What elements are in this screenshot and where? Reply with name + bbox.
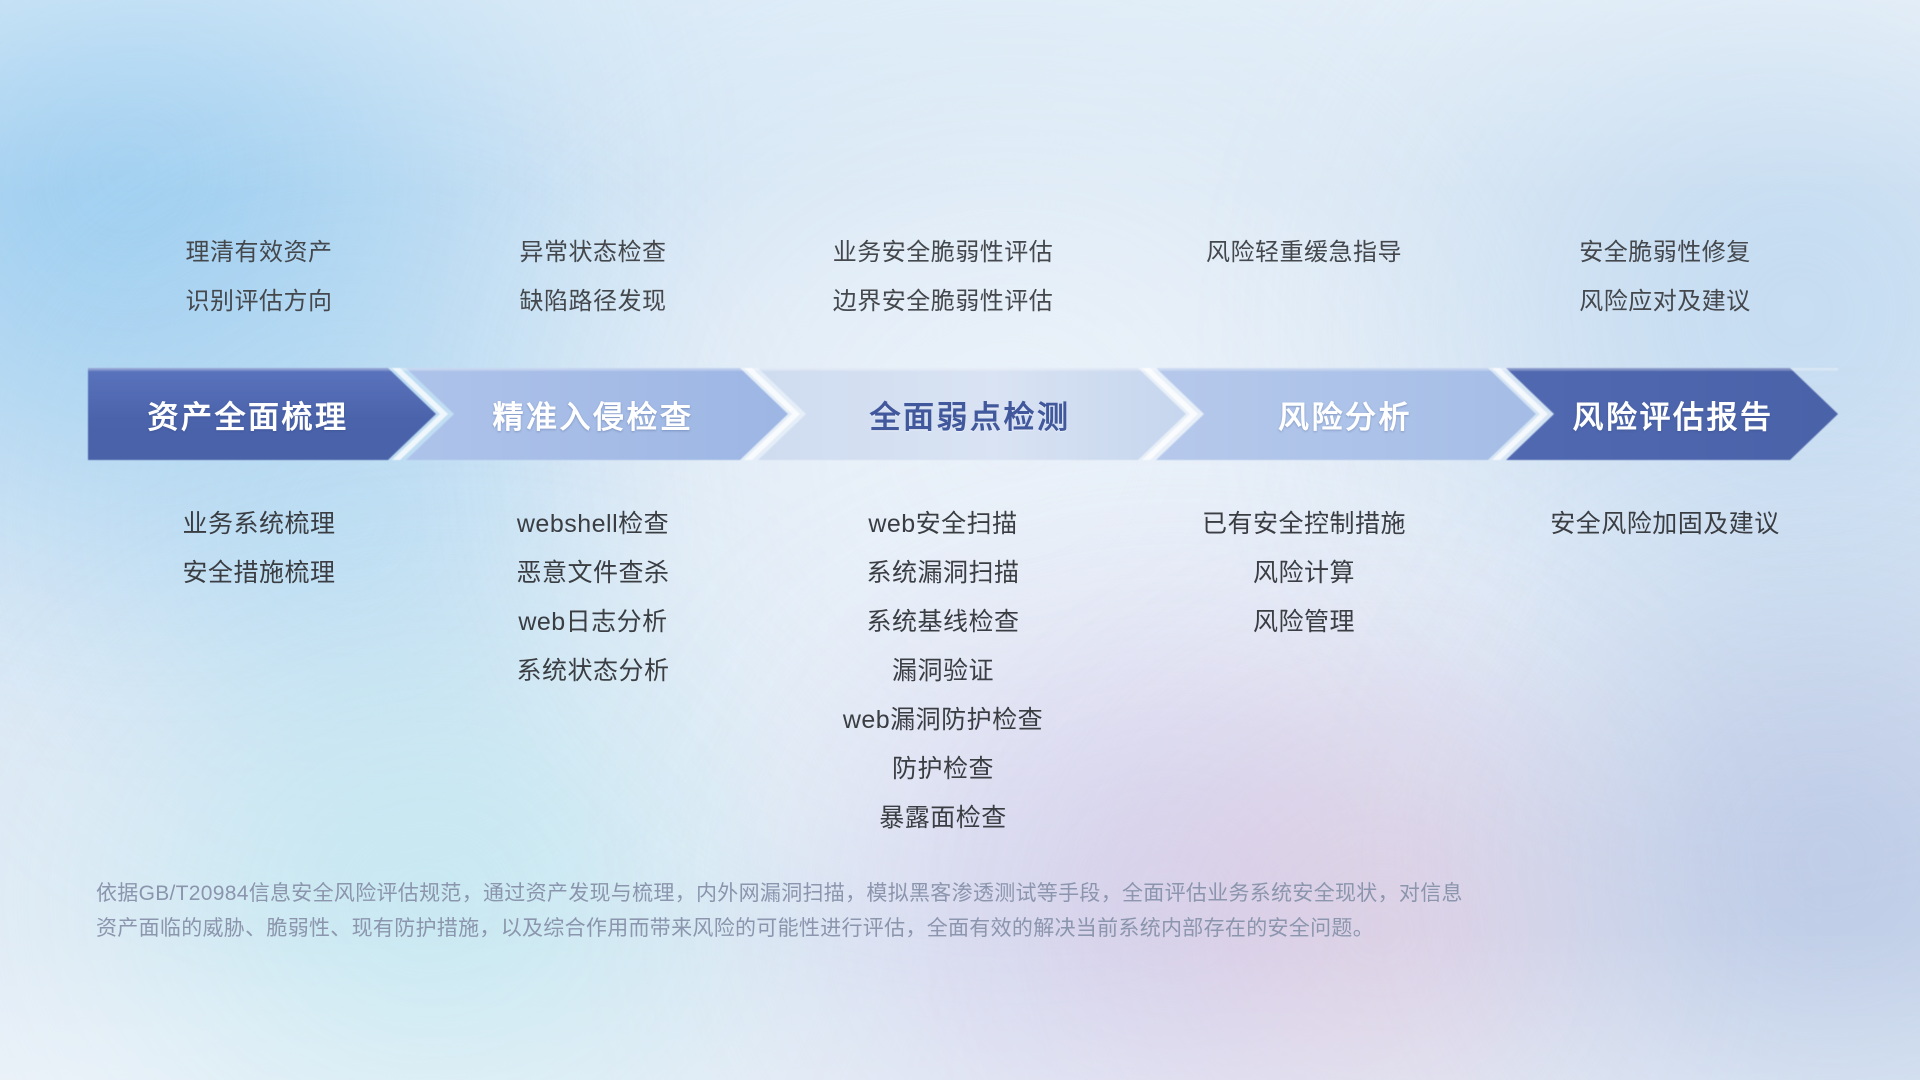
- bottom-item: 风险管理: [1253, 598, 1355, 647]
- bottom-item: web安全扫描: [868, 500, 1017, 549]
- stage-bottom-group-weakness-detection: web安全扫描 系统漏洞扫描 系统基线检查 漏洞验证 web漏洞防护检查 防护检…: [758, 500, 1128, 843]
- bottom-item: web漏洞防护检查: [843, 696, 1043, 745]
- stage-chevron-risk-report[interactable]: 风险评估报告: [1528, 368, 1818, 460]
- stage-chevron-risk-analysis[interactable]: 风险分析: [1178, 368, 1512, 460]
- bottom-item: 风险计算: [1253, 549, 1355, 598]
- footer-description: 依据GB/T20984信息安全风险评估规范，通过资产发现与梳理，内外网漏洞扫描，…: [96, 876, 1636, 946]
- top-item: 缺陷路径发现: [520, 277, 667, 326]
- process-arrow-banner: 资产全面梳理 精准入侵检查 全面弱点检测 风险分析 风险评估报告: [88, 368, 1838, 460]
- top-item: 识别评估方向: [186, 277, 333, 326]
- top-item: 风险轻重缓急指导: [1206, 228, 1402, 277]
- stage-bottom-group-risk-report: 安全风险加固及建议: [1480, 500, 1850, 549]
- stage-title: 风险评估报告: [1573, 392, 1774, 437]
- stage-bottom-group-intrusion-check: webshell检查 恶意文件查杀 web日志分析 系统状态分析: [428, 500, 758, 696]
- bottom-item: 系统基线检查: [866, 598, 1019, 647]
- footer-line-2: 资产面临的威胁、脆弱性、现有防护措施，以及综合作用而带来风险的可能性进行评估，全…: [96, 911, 1636, 946]
- stage-top-group-risk-analysis: 风险轻重缓急指导: [1128, 228, 1480, 326]
- bottom-item: 漏洞验证: [892, 647, 994, 696]
- stage-chevron-weakness-detection[interactable]: 全面弱点检测: [780, 368, 1160, 460]
- bottom-item: 暴露面检查: [879, 794, 1007, 843]
- stage-chevron-asset-inventory[interactable]: 资产全面梳理: [88, 368, 408, 460]
- stage-bottom-group-risk-analysis: 已有安全控制措施 风险计算 风险管理: [1128, 500, 1480, 647]
- stage-chevron-intrusion-check[interactable]: 精准入侵检查: [428, 368, 758, 460]
- bottom-item: 安全措施梳理: [182, 549, 335, 598]
- bottom-item: 系统漏洞扫描: [866, 549, 1019, 598]
- stage-title: 风险分析: [1278, 392, 1412, 437]
- top-item: 风险应对及建议: [1579, 277, 1751, 326]
- footer-line-1: 依据GB/T20984信息安全风险评估规范，通过资产发现与梳理，内外网漏洞扫描，…: [96, 876, 1636, 911]
- top-labels-row: 理清有效资产 识别评估方向 异常状态检查 缺陷路径发现 业务安全脆弱性评估 边界…: [90, 228, 1850, 326]
- bottom-item: web日志分析: [518, 598, 667, 647]
- stage-title: 资产全面梳理: [148, 392, 349, 437]
- bottom-item: 恶意文件查杀: [516, 549, 669, 598]
- top-item: 安全脆弱性修复: [1579, 228, 1751, 277]
- stage-title: 全面弱点检测: [870, 392, 1071, 437]
- bottom-item: 安全风险加固及建议: [1550, 500, 1780, 549]
- top-item: 异常状态检查: [520, 228, 667, 277]
- bottom-item: 已有安全控制措施: [1202, 500, 1406, 549]
- bottom-item: webshell检查: [517, 500, 669, 549]
- top-item: 业务安全脆弱性评估: [833, 228, 1054, 277]
- bottom-item: 防护检查: [892, 745, 994, 794]
- bottom-item: 系统状态分析: [516, 647, 669, 696]
- top-item: 理清有效资产: [186, 228, 333, 277]
- slide-canvas: 理清有效资产 识别评估方向 异常状态检查 缺陷路径发现 业务安全脆弱性评估 边界…: [0, 0, 1920, 1080]
- stage-bottom-group-asset-inventory: 业务系统梳理 安全措施梳理: [90, 500, 428, 598]
- stage-top-group-intrusion-check: 异常状态检查 缺陷路径发现: [428, 228, 758, 326]
- stage-top-group-risk-report: 安全脆弱性修复 风险应对及建议: [1480, 228, 1850, 326]
- stage-title: 精准入侵检查: [493, 392, 694, 437]
- bottom-labels-row: 业务系统梳理 安全措施梳理 webshell检查 恶意文件查杀 web日志分析 …: [90, 500, 1850, 843]
- top-item: 边界安全脆弱性评估: [833, 277, 1054, 326]
- slide-content: 理清有效资产 识别评估方向 异常状态检查 缺陷路径发现 业务安全脆弱性评估 边界…: [0, 0, 1920, 1080]
- bottom-item: 业务系统梳理: [182, 500, 335, 549]
- stage-top-group-asset-inventory: 理清有效资产 识别评估方向: [90, 228, 428, 326]
- stage-top-group-weakness-detection: 业务安全脆弱性评估 边界安全脆弱性评估: [758, 228, 1128, 326]
